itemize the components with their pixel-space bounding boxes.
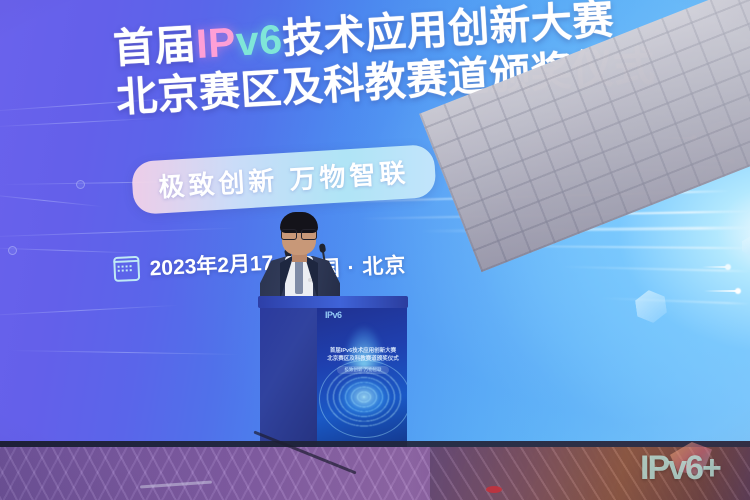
- podium-side-panel: [260, 305, 318, 453]
- podium-front-panel: IPv6 首届IPv6技术应用创新大赛 北京赛区及科教赛道颁奖仪式 极致创新 万…: [317, 302, 407, 458]
- eyeglasses-icon: [281, 229, 317, 238]
- screenshot-stage: 首届IPv6技术应用创新大赛 北京赛区及科教赛道颁奖仪式 极致创新 万物智联 2…: [0, 0, 750, 500]
- floor-marker-dot: [486, 486, 502, 493]
- podium-badge-text: 极致创新 万物智联: [337, 366, 389, 374]
- circuit-node-icon: [76, 180, 85, 189]
- podium-title-line-1: 首届IPv6技术应用创新大赛: [323, 346, 403, 354]
- headline-prefix: 首届: [112, 21, 198, 72]
- podium: IPv6 首届IPv6技术应用创新大赛 北京赛区及科教赛道颁奖仪式 极致创新 万…: [260, 296, 406, 456]
- circuit-node-icon: [8, 246, 17, 255]
- watermark-text: IPv6+: [640, 449, 720, 488]
- podium-logo: IPv6: [325, 310, 342, 320]
- lapel-mic-icon: [308, 278, 312, 282]
- necktie: [295, 260, 303, 294]
- headline-ip-text: IP: [195, 19, 237, 67]
- headline-v6-text: v6: [235, 16, 284, 65]
- calendar-icon: [113, 255, 140, 281]
- podium-vortex-graphic: [325, 366, 403, 428]
- podium-top-surface: [258, 296, 408, 308]
- podium-title-line-2: 北京赛区及科教赛道颁奖仪式: [323, 354, 403, 362]
- subtitle-text: 极致创新 万物智联: [158, 158, 411, 203]
- ipv6-watermark: IPv6+: [640, 444, 744, 492]
